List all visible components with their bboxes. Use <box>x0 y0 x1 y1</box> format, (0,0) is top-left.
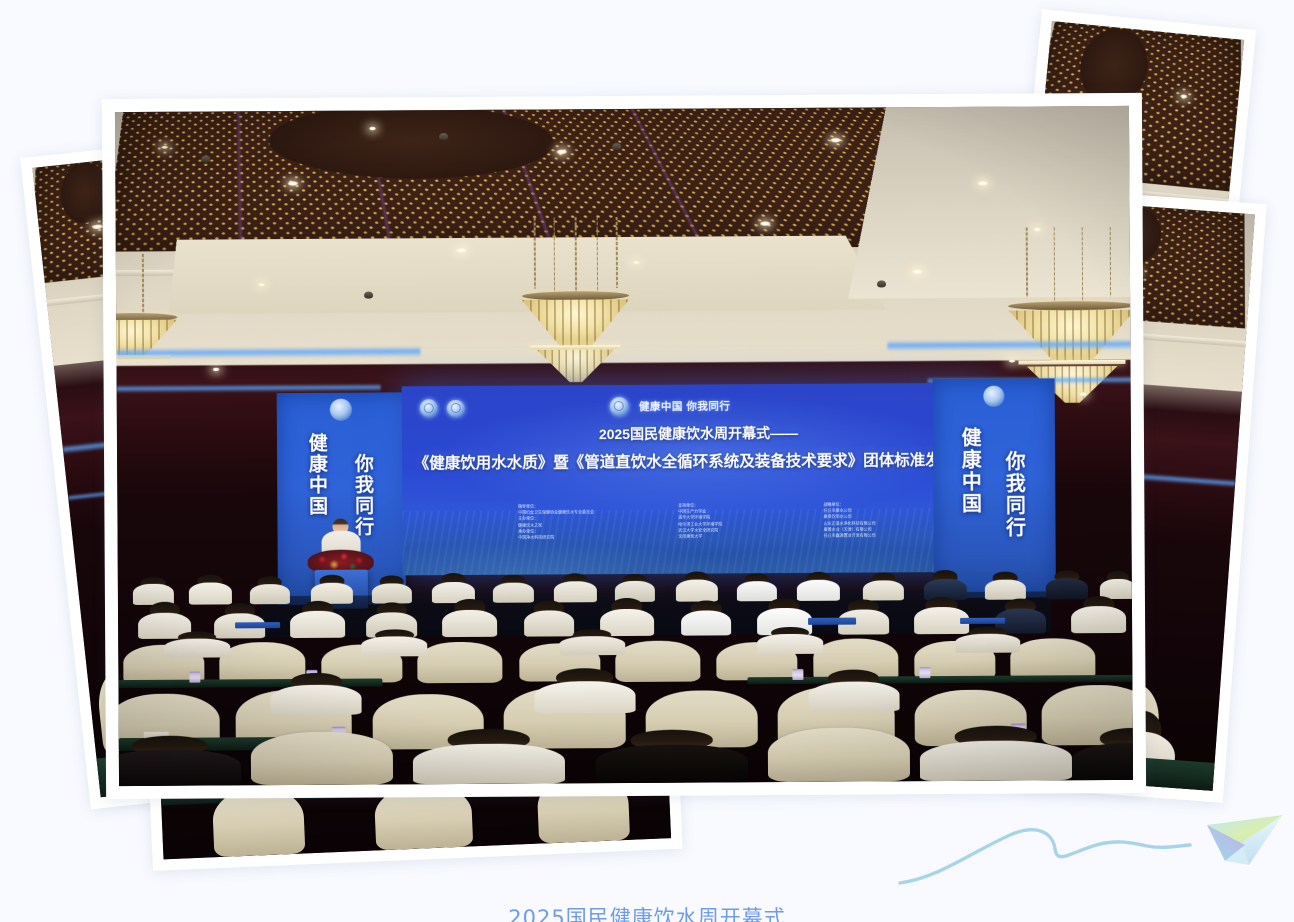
org3-line-0: 任丘市康水公司 <box>823 508 875 514</box>
org2-line-0: 中国生产力学会 <box>678 509 722 515</box>
org1-line-1: 主办单位： <box>518 516 594 523</box>
screen-emblem-center <box>609 397 628 416</box>
paper-plane-icon <box>1207 815 1283 865</box>
screen-title-line2: 《健康饮用水水质》暨《管道直饮水全循环系统及装备技术要求》团体标准发布会 <box>414 448 972 473</box>
banner-right-text-a: 健康中国 <box>955 427 985 515</box>
decoration-swoosh-plane <box>885 805 1294 910</box>
banner-left-text-a: 健康中国 <box>303 433 331 517</box>
org3-line-1: 康泉饮用水公司 <box>823 514 875 520</box>
chandelier-center <box>521 217 629 379</box>
audience-row <box>119 724 1133 786</box>
org3-line-3: 康雅水业（天津）有限公司 <box>824 526 876 532</box>
org1-line-2: 健康饮水之家 <box>518 522 594 529</box>
org2-line-3: 武汉大学水安全研究院 <box>678 527 722 533</box>
banner-right-text-b: 你我同行 <box>999 450 1029 538</box>
screen-emblem-left <box>419 399 437 417</box>
screen-org-col-1: 指导单位： 中国妇女卫生保健协会健康饮水专业委员会 主办单位： 健康饮水之家 承… <box>518 503 594 540</box>
screen-title-line1: 2025国民健康饮水周开幕式—— <box>599 423 798 444</box>
org2-line-2: 哈尔滨工业大学环境学院 <box>678 521 722 527</box>
org1-line-4: 中国净水科技研究院 <box>518 534 594 541</box>
org1-line-0: 中国妇女卫生保健协会健康饮水专业委员会 <box>518 510 594 517</box>
chandelier-left <box>115 253 178 388</box>
org2-line-4: 沈阳建筑大学 <box>678 533 722 539</box>
org1-line-3: 承办单位： <box>518 528 594 535</box>
org2-line-1: 清华大学环境学院 <box>678 515 722 521</box>
photo-image-main: 健康中国 你我同行 健康中国 你我同行 2025国民健康饮水周开幕式—— 《健康… <box>115 106 1133 786</box>
screen-org-col-3: 战略单位： 任丘市康水公司 康泉饮用水公司 山东正道水净化科技有限公司 康雅水业… <box>823 502 875 539</box>
screen-header-text: 健康中国 你我同行 <box>639 398 731 414</box>
screen-emblem-left2 <box>447 400 465 418</box>
org3-line-4: 任丘市鑫源置业开发有限公司 <box>824 532 876 538</box>
photo-frame-main[interactable]: 健康中国 你我同行 健康中国 你我同行 2025国民健康饮水周开幕式—— 《健康… <box>102 93 1146 799</box>
stage-led-screen: 健康中国 你我同行 2025国民健康饮水周开幕式—— 《健康饮用水水质》暨《管道… <box>402 383 996 575</box>
org3-line-2: 山东正道水净化科技有限公司 <box>824 520 876 526</box>
photo-caption: 2025国民健康饮水周开幕式 <box>0 902 1294 922</box>
wave-line <box>900 830 1190 883</box>
screen-org-col-2: 支持单位： 中国生产力学会 清华大学环境学院 哈尔滨工业大学环境学院 武汉大学水… <box>678 503 722 540</box>
audience-area <box>118 564 1133 786</box>
